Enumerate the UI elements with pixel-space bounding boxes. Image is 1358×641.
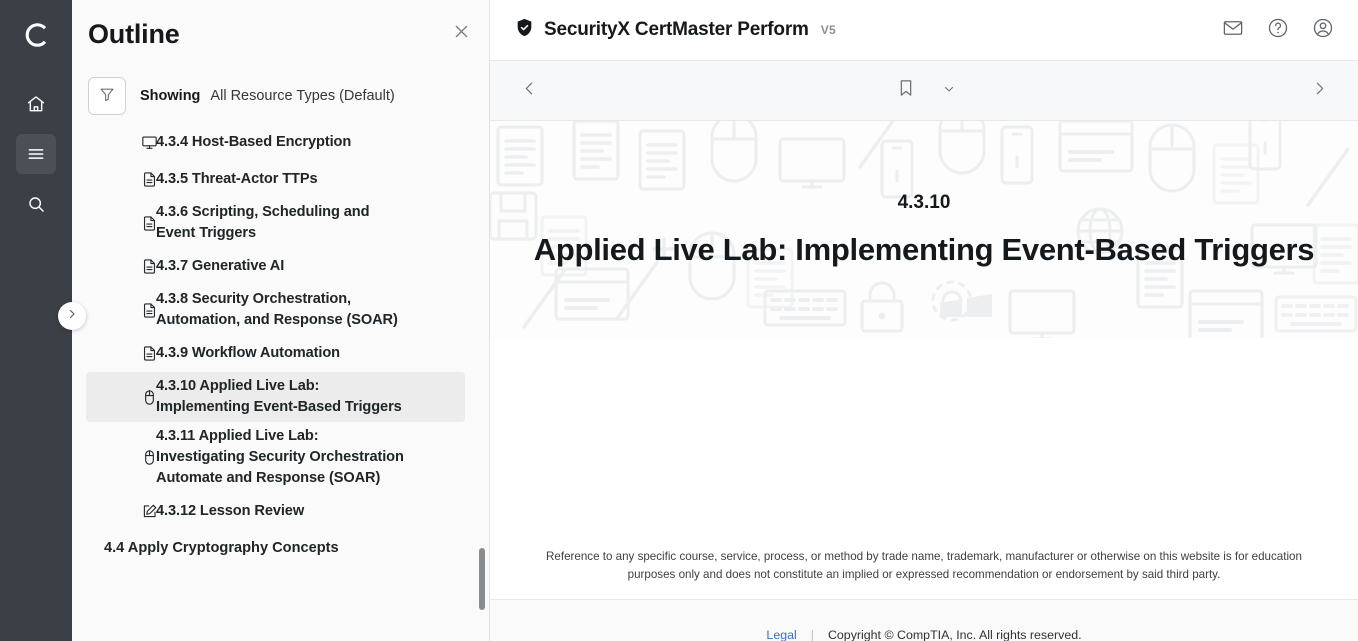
bookmark-controls <box>490 74 1358 108</box>
document-icon <box>140 258 158 276</box>
rail-item-home[interactable] <box>16 84 56 124</box>
hero-background-pattern-icons <box>490 121 1358 338</box>
list-item-label: 4.3.7 Generative AI <box>156 256 284 277</box>
comptia-c-logo-icon[interactable] <box>15 14 57 56</box>
outline-panel: Outline Showing All Resource Types (Defa… <box>72 0 490 641</box>
list-item[interactable]: 4.3.12 Lesson Review <box>86 493 465 530</box>
lesson-number: 4.3.10 <box>898 192 951 214</box>
list-item[interactable]: 4.3.7 Generative AI <box>86 248 465 285</box>
chevron-left-icon <box>521 80 538 102</box>
footer-content: Legal | Copyright © CompTIA, Inc. All ri… <box>766 600 1081 641</box>
help-circle-icon <box>1267 17 1289 44</box>
list-item-label: 4.3.5 Threat-Actor TTPs <box>156 169 318 190</box>
lesson-title: Applied Live Lab: Implementing Event-Bas… <box>534 232 1315 268</box>
list-item[interactable]: 4.3.4 Host-Based Encryption <box>86 124 465 161</box>
list-item[interactable]: 4.3.10 Applied Live Lab: Implementing Ev… <box>86 372 465 422</box>
header-actions <box>1220 17 1336 43</box>
list-item[interactable]: 4.3.6 Scripting, Scheduling and Event Tr… <box>86 198 465 248</box>
home-icon <box>26 94 46 114</box>
monitor-icon <box>140 134 158 152</box>
mail-button[interactable] <box>1220 17 1246 43</box>
list-item-label: 4.3.4 Host-Based Encryption <box>156 132 351 153</box>
chevron-right-icon <box>66 307 78 325</box>
page-footer: Legal | Copyright © CompTIA, Inc. All ri… <box>490 599 1358 641</box>
main-panel: SecurityX CertMaster Perform V5 <box>490 0 1358 641</box>
document-icon <box>140 301 158 319</box>
legal-link[interactable]: Legal <box>766 628 796 641</box>
filter-row: Showing All Resource Types (Default) <box>72 68 489 124</box>
app-header: SecurityX CertMaster Perform V5 <box>490 0 1358 60</box>
list-item[interactable]: 4.3.11 Applied Live Lab: Investigating S… <box>86 422 465 493</box>
outline-tree: 4.3.4 Host-Based Encryption 4.3.5 Threat… <box>72 124 489 641</box>
close-outline-button[interactable] <box>447 20 475 48</box>
menu-outline-icon <box>26 144 46 164</box>
product-name: SecurityX CertMaster Perform <box>544 19 809 41</box>
previous-page-button[interactable] <box>512 74 546 108</box>
account-button[interactable] <box>1310 17 1336 43</box>
list-item-label: 4.3.10 Applied Live Lab: Implementing Ev… <box>156 376 406 418</box>
shield-check-icon <box>514 17 535 43</box>
next-page-button[interactable] <box>1302 74 1336 108</box>
outline-scrollbar-thumb[interactable] <box>479 548 485 610</box>
list-item-label: 4.3.6 Scripting, Scheduling and Event Tr… <box>156 202 406 244</box>
lesson-hero-banner: 4.3.10 Applied Live Lab: Implementing Ev… <box>490 121 1358 338</box>
document-icon <box>140 345 158 363</box>
chevron-down-icon <box>943 82 955 100</box>
sidebar-collapse-toggle[interactable] <box>58 302 86 330</box>
user-account-icon <box>1312 17 1334 44</box>
bookmark-button[interactable] <box>889 74 923 108</box>
bookmark-icon <box>896 78 916 103</box>
filter-selected-value[interactable]: All Resource Types (Default) <box>210 88 394 104</box>
mouse-icon <box>140 388 158 406</box>
list-item-label: 4.3.8 Security Orchestration, Automation… <box>156 289 408 331</box>
page-title: Outline <box>88 19 180 50</box>
list-item[interactable]: 4.3.8 Security Orchestration, Automation… <box>86 285 465 335</box>
rail-item-outline[interactable] <box>16 134 56 174</box>
lesson-toolbar <box>490 60 1358 121</box>
filter-funnel-icon <box>98 85 116 108</box>
bookmark-dropdown-button[interactable] <box>939 74 959 108</box>
lesson-body: Reference to any specific course, servic… <box>490 338 1358 641</box>
copyright-text: Copyright © CompTIA, Inc. All rights res… <box>828 628 1082 641</box>
list-item-label: 4.3.9 Workflow Automation <box>156 343 340 364</box>
close-icon <box>452 22 471 46</box>
mail-icon <box>1222 17 1244 44</box>
document-icon <box>140 171 158 189</box>
filter-button[interactable] <box>88 77 126 115</box>
mouse-icon <box>140 449 158 467</box>
list-item[interactable]: 4.3.9 Workflow Automation <box>86 335 465 372</box>
list-item-label: 4.3.11 Applied Live Lab: Investigating S… <box>156 426 406 489</box>
outline-scrollbar[interactable] <box>479 124 485 641</box>
disclaimer-text: Reference to any specific course, servic… <box>490 548 1358 599</box>
rail-item-search[interactable] <box>16 184 56 224</box>
chevron-right-icon <box>1311 80 1328 102</box>
outline-header: Outline <box>72 0 489 68</box>
app-root: Outline Showing All Resource Types (Defa… <box>0 0 1358 641</box>
outline-section-header[interactable]: 4.4 Apply Cryptography Concepts <box>86 530 465 564</box>
help-button[interactable] <box>1265 17 1291 43</box>
brand: SecurityX CertMaster Perform V5 <box>514 17 836 43</box>
version-badge: V5 <box>821 23 836 37</box>
filter-showing-label: Showing <box>140 88 200 104</box>
left-icon-rail <box>0 0 72 641</box>
search-icon <box>26 194 46 214</box>
list-item[interactable]: 4.3.5 Threat-Actor TTPs <box>86 161 465 198</box>
footer-separator: | <box>811 628 814 641</box>
list-item-label: 4.3.12 Lesson Review <box>156 501 304 522</box>
document-icon <box>140 214 158 232</box>
pencil-edit-icon <box>140 503 158 521</box>
